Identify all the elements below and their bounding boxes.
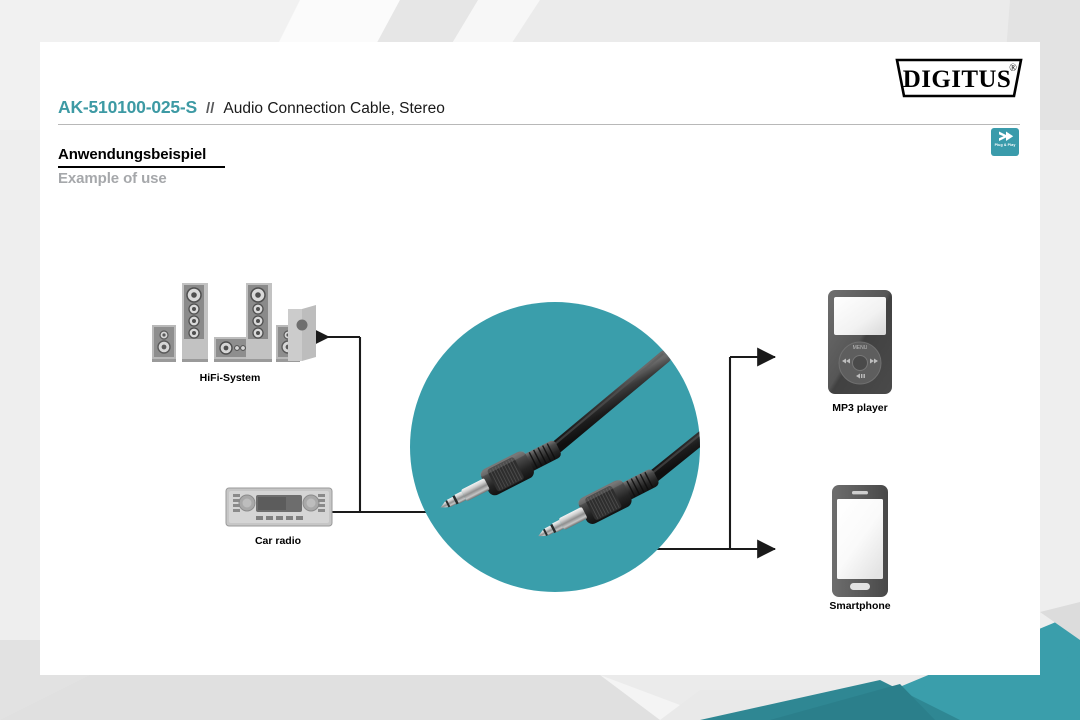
digitus-logo-text: DIGITUS <box>903 66 1011 93</box>
section-heading-underline <box>58 166 225 168</box>
content-card: DIGITUS ® AK-510100-025-S // Audio Conne… <box>40 42 1040 675</box>
product-title-row: AK-510100-025-S // Audio Connection Cabl… <box>58 97 1020 118</box>
registered-trademark-symbol: ® <box>1009 63 1017 74</box>
device-label-hifi-system: HiFi-System <box>140 372 320 384</box>
section-heading-de: Anwendungsbeispiel <box>58 146 206 163</box>
title-divider <box>58 124 1020 125</box>
car-radio-icon <box>188 482 368 532</box>
device-label-car-radio: Car radio <box>188 535 368 547</box>
play-arrow-icon <box>997 130 1014 143</box>
hifi-system-icon <box>140 277 320 369</box>
product-sku: AK-510100-025-S <box>58 97 197 118</box>
smartphone-icon <box>770 482 950 602</box>
plug-and-play-label: Plug & Play <box>995 143 1016 148</box>
device-smartphone: Smartphone <box>770 482 950 627</box>
title-separator: // <box>206 100 214 117</box>
plug-and-play-badge: Plug & Play <box>991 128 1019 156</box>
device-hifi-system: HiFi-System <box>140 277 320 387</box>
product-name: Audio Connection Cable, Stereo <box>223 100 444 118</box>
application-diagram: HiFi-System <box>40 192 1040 675</box>
digitus-logo: DIGITUS ® <box>894 56 1024 100</box>
audio-cable-illustration <box>410 302 700 592</box>
product-image-circle <box>410 302 700 592</box>
device-car-radio: Car radio <box>188 482 368 562</box>
device-mp3-player: MENU MP3 player <box>770 287 950 427</box>
device-label-mp3-player: MP3 player <box>770 402 950 414</box>
svg-text:MENU: MENU <box>853 345 868 351</box>
digitus-logo-mark: DIGITUS ® <box>894 56 1024 100</box>
teal-circle-backdrop <box>410 302 700 592</box>
mp3-player-icon: MENU <box>770 287 950 399</box>
datasheet-page: DIGITUS ® AK-510100-025-S // Audio Conne… <box>0 0 1080 720</box>
device-label-smartphone: Smartphone <box>770 600 950 612</box>
section-heading-en: Example of use <box>58 170 167 187</box>
